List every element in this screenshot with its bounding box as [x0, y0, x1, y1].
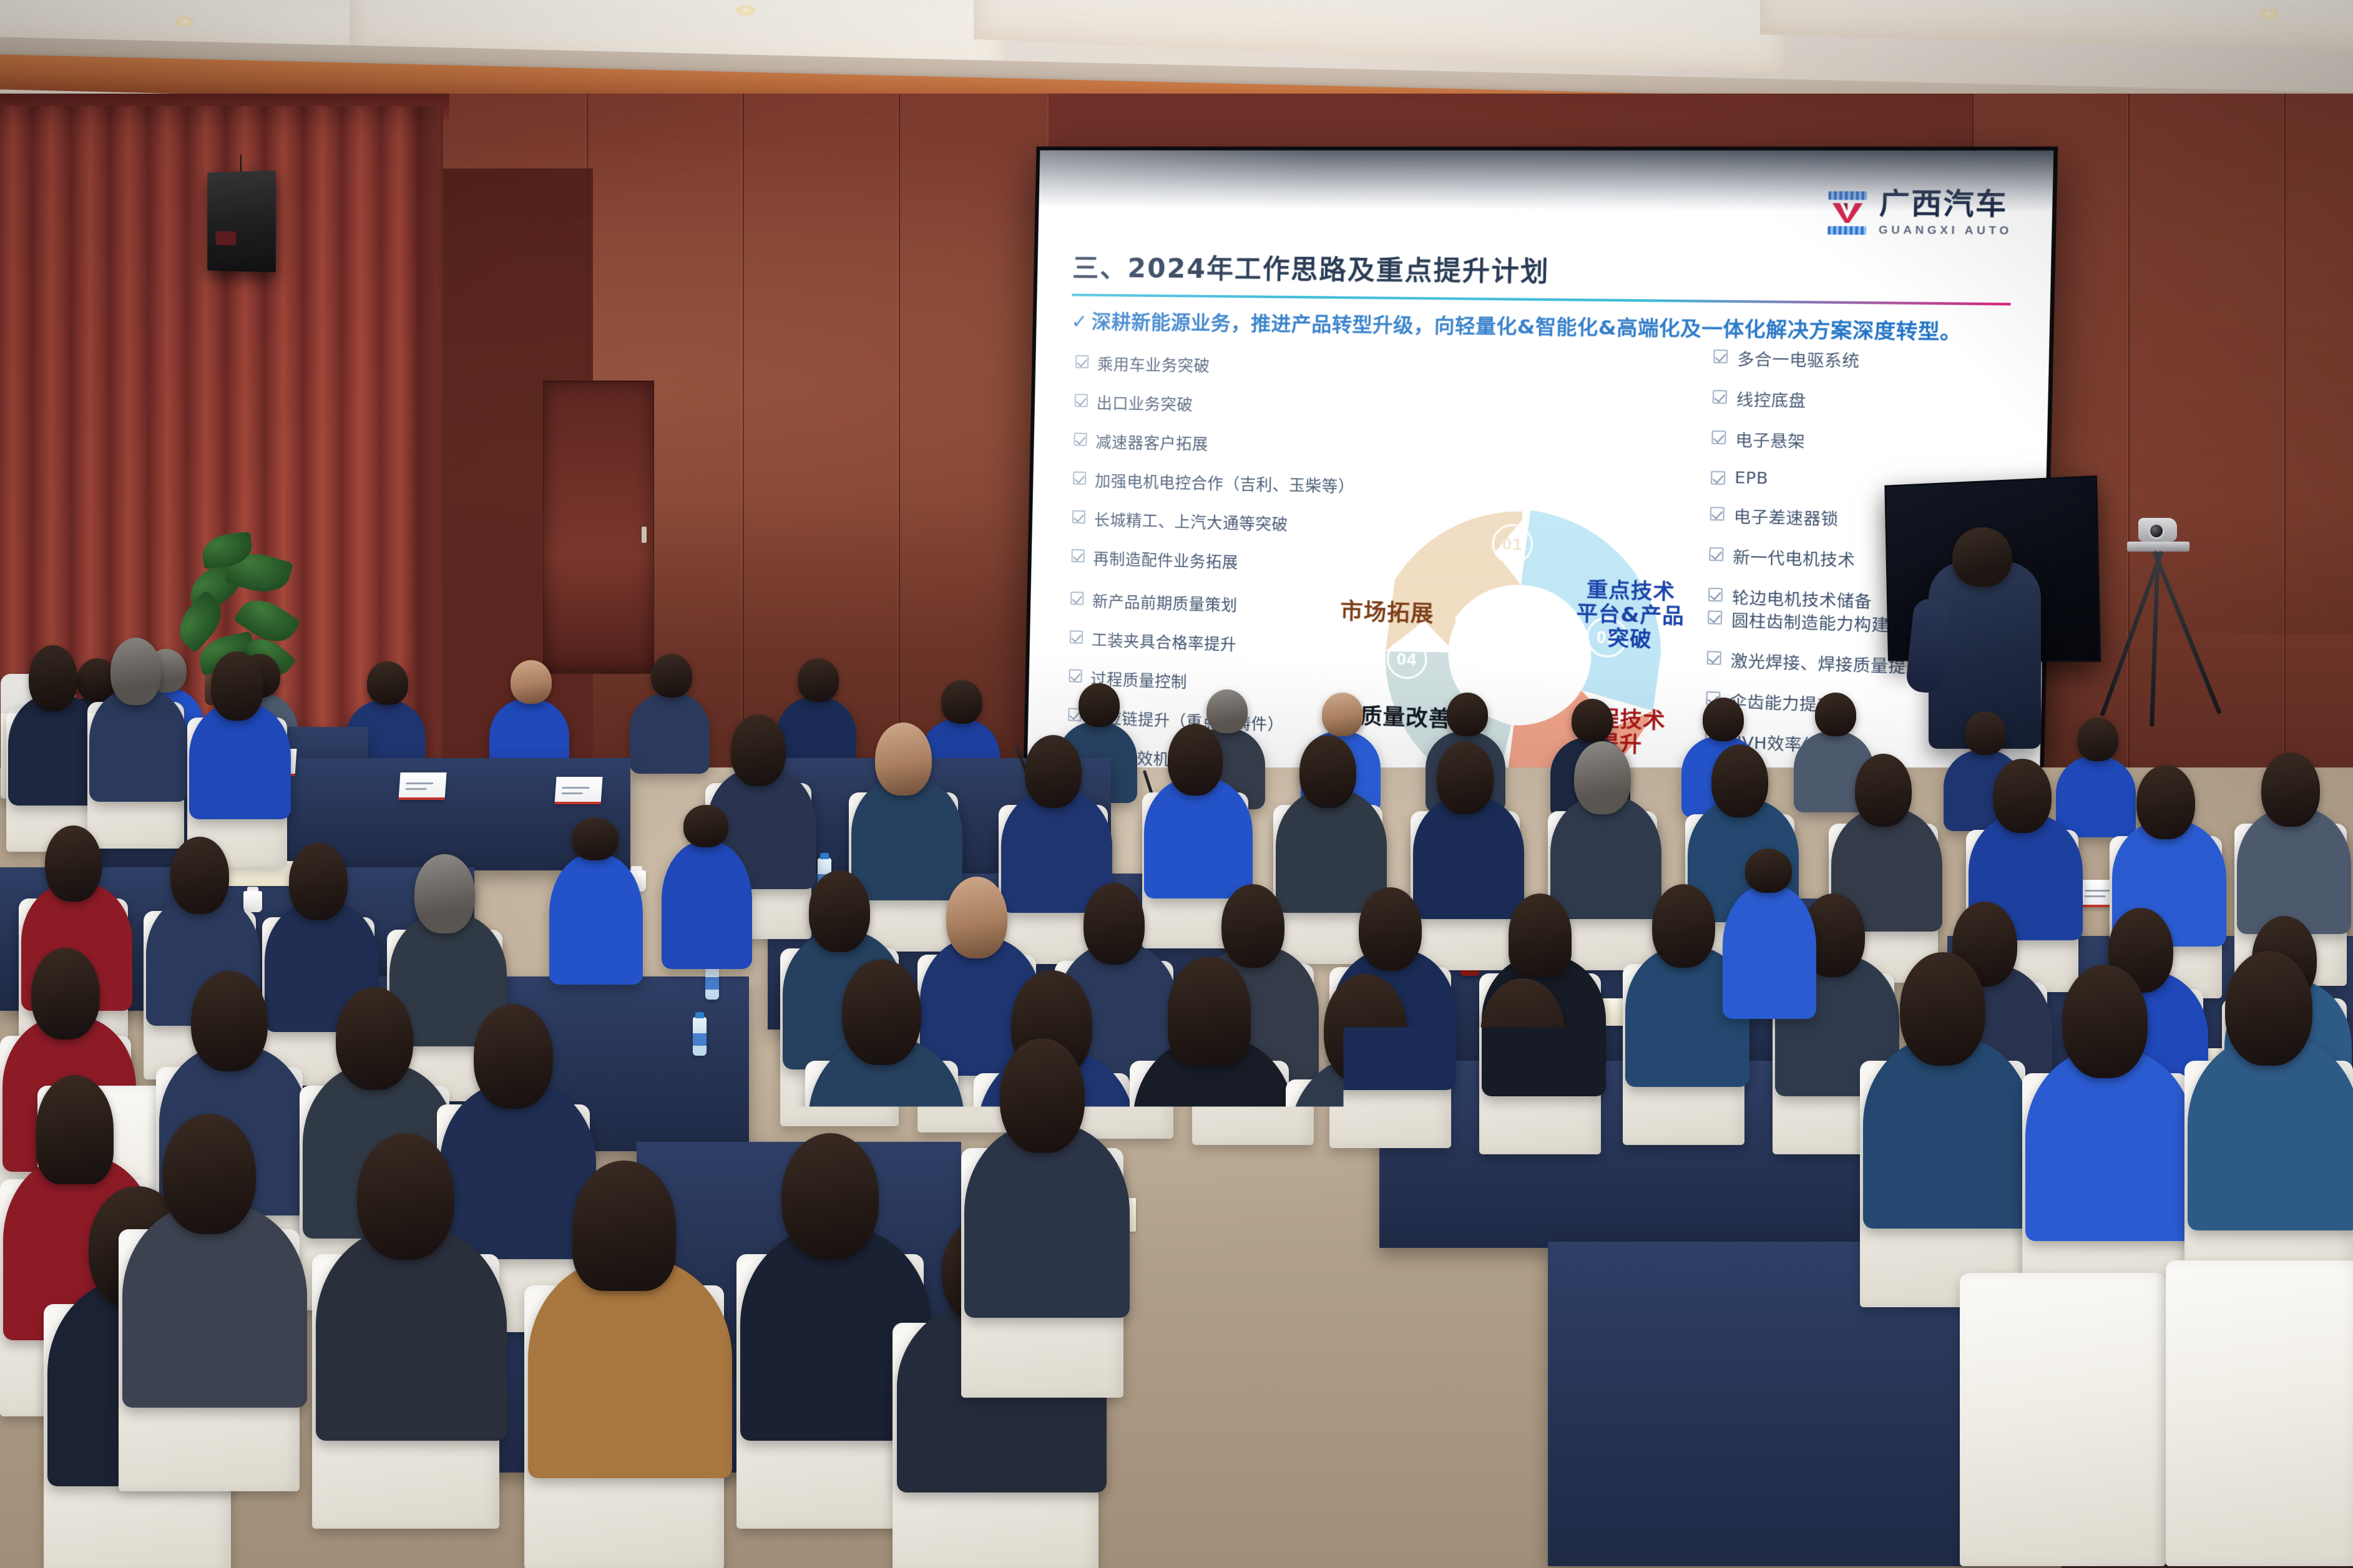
checkbox-checked-icon	[1075, 355, 1088, 368]
attendee-head	[1359, 887, 1422, 970]
camera-mount-plate	[2127, 542, 2189, 552]
bullet-item: 乘用车业务突破	[1075, 352, 1349, 379]
staff-member-head	[683, 805, 729, 847]
name-card-text-line	[562, 792, 583, 794]
checkbox-checked-icon	[1069, 669, 1082, 683]
ceiling-downlight-icon	[736, 5, 755, 16]
ceiling-downlight-icon	[175, 16, 193, 27]
attendee-head	[798, 658, 839, 702]
attendee-head	[31, 948, 99, 1040]
wall-speaker	[207, 170, 276, 272]
attendee-head	[1206, 689, 1248, 733]
ceiling-downlight-icon	[2259, 9, 2278, 19]
attendee-head	[211, 651, 263, 720]
bullet-item: 电子悬架	[1711, 427, 2002, 457]
donut-label-02: 重点技术平台&产品突破	[1546, 577, 1715, 654]
name-card-text-line	[406, 788, 427, 790]
bullet-item: 线控底盘	[1713, 387, 2003, 415]
camera-lens-icon	[2148, 523, 2165, 539]
attendee-head	[289, 843, 348, 920]
attendee-head	[336, 987, 414, 1091]
attendee-head	[941, 680, 982, 724]
checkbox-checked-icon	[1710, 507, 1724, 520]
attendee-head	[110, 638, 161, 705]
checkbox-checked-icon	[1713, 349, 1728, 363]
name-card-text-line	[562, 787, 589, 789]
bullet-label: 乘用车业务突破	[1097, 352, 1210, 376]
check-marker-icon: ✓	[1071, 311, 1088, 333]
bullet-label: 出口业务突破	[1096, 391, 1193, 416]
wall-panel	[2284, 94, 2353, 830]
bullet-label: 线控底盘	[1736, 387, 1807, 412]
bullet-item: 新产品前期质量策划	[1070, 588, 1344, 620]
wall-door[interactable]	[543, 381, 654, 674]
speaker-cable	[240, 155, 242, 173]
attendee-head	[572, 1161, 676, 1291]
bullet-label: 多合一电驱系统	[1737, 346, 1860, 371]
attendee-head	[1079, 683, 1120, 727]
bullet-item: 减速器客户拓展	[1074, 429, 1348, 457]
attendee-torso	[2056, 756, 2136, 837]
attendee-head	[1815, 693, 1856, 736]
attendee-head	[1509, 894, 1572, 976]
staff-member-torso	[549, 854, 643, 985]
attendee-head	[842, 959, 921, 1065]
attendee-head	[1900, 952, 1986, 1066]
attendee-head	[45, 825, 102, 902]
attendee-head	[651, 654, 692, 698]
checkbox-checked-icon	[1713, 390, 1727, 404]
attendee-head	[1711, 744, 1768, 817]
attendee-head	[170, 837, 229, 914]
attendee-head	[1652, 884, 1715, 967]
bullet-label: 减速器客户拓展	[1095, 430, 1208, 455]
attendee-head	[474, 1004, 553, 1109]
presentation-slide: 广西汽车 GUANGXI AUTO 三、2024年工作思路及重点提升计划 ✓深耕…	[1027, 150, 2054, 816]
attendee-head	[414, 854, 474, 933]
ptz-camera-tripod	[2121, 518, 2196, 730]
ceiling-coffer-panel	[974, 0, 1785, 73]
logo-bar-top	[1828, 191, 1867, 200]
ptz-camera-icon	[2138, 518, 2177, 542]
staff-member-torso	[2141, 804, 2234, 938]
projection-screen: 广西汽车 GUANGXI AUTO 三、2024年工作思路及重点提升计划 ✓深耕…	[1023, 147, 2058, 820]
bullet-item: 长城精工、上汽大通等突破	[1072, 507, 1346, 537]
attendee-head	[1703, 698, 1744, 741]
attendee-head	[1025, 735, 1082, 808]
bullet-column-top-left: 乘用车业务突破出口业务突破减速器客户拓展加强电机电控合作（吉利、玉柴等）长城精工…	[1071, 352, 1349, 593]
bullet-label: 长城精工、上汽大通等突破	[1094, 507, 1289, 535]
attendee-head	[1574, 741, 1631, 814]
checkbox-checked-icon	[1070, 592, 1084, 605]
bullet-label: 再制造配件业务拓展	[1093, 547, 1238, 573]
bullet-label: EPB	[1734, 468, 1769, 488]
presenter-head	[1952, 527, 2012, 587]
v-emblem-icon	[1824, 188, 1869, 237]
attendee-head	[1322, 693, 1363, 736]
checkbox-checked-icon	[1711, 431, 1726, 444]
attendee-head	[1993, 759, 2052, 834]
attendee-chair[interactable]	[2166, 1260, 2353, 1566]
attendee-head	[1324, 974, 1407, 1084]
checkbox-checked-icon	[1711, 471, 1725, 485]
bullet-item: 多合一电驱系统	[1713, 346, 2004, 374]
logo-text-en: GUANGXI AUTO	[1879, 223, 2013, 237]
company-logo: 广西汽车 GUANGXI AUTO	[1824, 188, 2013, 238]
slide-subtitle-text: 深耕新能源业务，推进产品转型升级，向轻量化&智能化&高端化及一体化解决方案深度转…	[1092, 311, 1962, 344]
table-name-card	[554, 777, 602, 804]
checkbox-checked-icon	[1075, 394, 1088, 407]
attendee-head	[1168, 957, 1251, 1066]
attendee-head	[946, 877, 1008, 958]
bullet-label: 电子悬架	[1735, 427, 1806, 452]
attendee-chair[interactable]	[1960, 1273, 2166, 1566]
bullet-label: 加强电机电控合作（吉利、玉柴等）	[1095, 469, 1355, 497]
attendee-head	[875, 723, 932, 796]
conference-room-scene: 广西汽车 GUANGXI AUTO 三、2024年工作思路及重点提升计划 ✓深耕…	[0, 0, 2353, 1568]
table-name-card	[398, 772, 446, 800]
cycle-donut-diagram: 01 02 03 04 市场拓展 重点技术平台&产品突破 工程技术提升 质量改善	[1353, 490, 1690, 816]
attendee-head	[367, 661, 408, 705]
bullet-item: 再制造配件业务拓展	[1071, 546, 1344, 576]
attendee-head	[1447, 693, 1488, 736]
logo-text-cn: 广西汽车	[1879, 190, 2013, 219]
donut-label-01: 市场拓展	[1313, 598, 1463, 628]
bullet-label: 工装夹具合格率提升	[1092, 628, 1237, 655]
attendee-head	[2225, 951, 2312, 1066]
bullet-item: 加强电机电控合作（吉利、玉柴等）	[1073, 468, 1346, 497]
name-card-text-line	[2085, 890, 2112, 892]
checkbox-checked-icon	[1070, 630, 1083, 644]
attendee-head	[511, 660, 552, 704]
logo-bar-bottom	[1827, 226, 1866, 235]
tea-mug	[243, 891, 262, 912]
attendee-head	[1480, 978, 1565, 1090]
attendee-head	[162, 1114, 257, 1234]
checkbox-checked-icon	[1709, 547, 1723, 562]
attendee-head	[1572, 699, 1613, 743]
projection-screen-surface: 广西汽车 GUANGXI AUTO 三、2024年工作思路及重点提升计划 ✓深耕…	[1027, 150, 2054, 816]
bullet-label: 新一代电机技术	[1733, 545, 1856, 572]
bullet-label: 电子差速器锁	[1734, 504, 1839, 530]
attendee-head	[2261, 752, 2320, 827]
bullet-item: 工装夹具合格率提升	[1070, 627, 1343, 659]
attendee-head	[2062, 965, 2148, 1078]
name-card-text-line	[2085, 895, 2106, 897]
staff-member-torso	[1723, 885, 1816, 1019]
ceiling-coffer-panel	[1760, 0, 2353, 53]
bullet-item: 出口业务突破	[1074, 391, 1348, 418]
checkbox-checked-icon	[1072, 510, 1085, 524]
slide-title: 三、2024年工作思路及重点提升计划	[1072, 246, 2012, 293]
attendee-head	[1965, 711, 2006, 755]
attendee-head	[29, 645, 77, 711]
water-bottle[interactable]	[693, 1017, 707, 1056]
attendee-head	[1000, 1038, 1084, 1153]
staff-member-head	[2163, 767, 2210, 812]
staff-member-head	[1745, 849, 1792, 893]
attendee-head	[1437, 741, 1494, 814]
bullet-label: 圆柱齿制造能力构建	[1731, 608, 1889, 636]
attendee-head	[1221, 884, 1284, 967]
name-card-text-line	[406, 782, 433, 784]
attendee-head	[191, 971, 267, 1071]
attendee-torso	[630, 693, 710, 774]
attendee-head	[809, 870, 871, 952]
attendee-head	[731, 714, 786, 786]
attendee-head	[1168, 724, 1223, 796]
attendee-head	[1299, 735, 1356, 808]
attendee-head	[781, 1133, 879, 1259]
checkbox-checked-icon	[1074, 432, 1087, 446]
attendee-head	[36, 1075, 114, 1184]
checkbox-checked-icon	[1073, 472, 1086, 485]
checkbox-checked-icon	[1071, 549, 1084, 563]
attendee-head	[2077, 718, 2118, 761]
attendee-head	[357, 1133, 454, 1259]
attendee-head	[1855, 754, 1912, 827]
bullet-label: 新产品前期质量策划	[1092, 589, 1238, 616]
logo-v-glyph	[1831, 202, 1864, 224]
staff-member-head	[572, 817, 619, 860]
attendee-head	[1084, 883, 1145, 965]
staff-member-torso	[662, 841, 752, 969]
title-underline-rule	[1072, 294, 2010, 306]
